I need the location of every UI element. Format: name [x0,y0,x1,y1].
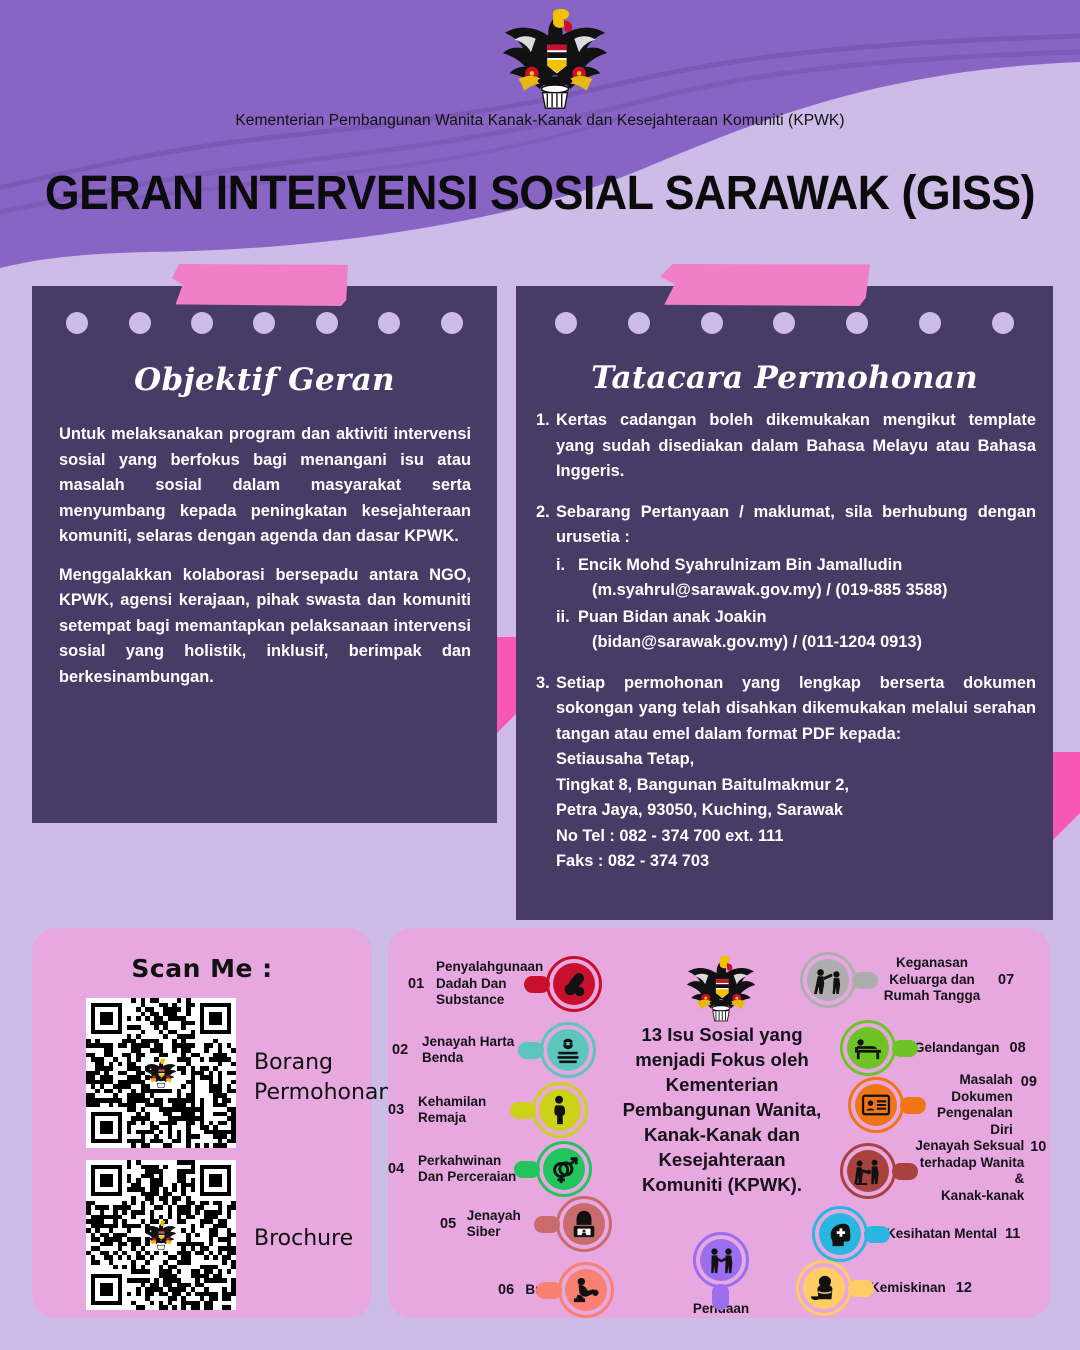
issue-item-13[interactable]: Penuaan [686,1232,756,1318]
procedure-item: 2. Sebarang Pertanyaan / maklumat, sila … [536,500,1036,656]
contact-person: i. Encik Mohd Syahrulnizam Bin Jamalludi… [556,553,1036,604]
objective-card: Objektif Geran Untuk melaksanakan progra… [32,286,497,823]
punch-holes [516,312,1053,334]
page-title: GERAN INTERVENSI SOSIAL SARAWAK (GISS) [38,168,1042,220]
issue-item-11[interactable]: Kesihatan Mental 11 [812,1206,1022,1262]
issue-number: 04 [388,1161,412,1177]
punch-holes [32,312,497,334]
contact-marker: ii. [556,605,578,656]
issue-item-04[interactable]: 04 Perkahwinan Dan Perceraian [388,1141,600,1197]
torn-edge [32,808,497,824]
procedure-card: Tatacara Permohonan 1. Kertas cadangan b… [516,286,1053,920]
issue-label: Masalah Dokumen Pengenalan Diri [920,1072,1013,1138]
pregnant-woman-icon [532,1082,588,1138]
procedure-text: Setiap permohonan yang lengkap berserta … [556,674,1036,743]
contact-name: Puan Bidan anak Joakin [578,608,767,626]
punch-hole [701,312,723,334]
issue-label: Keganasan Keluarga dan Rumah Tangga [872,955,992,1005]
procedure-item: 1. Kertas cadangan boleh dikemukakan men… [536,408,1036,485]
punch-hole [378,312,400,334]
issue-number: 11 [1005,1226,1020,1242]
sarawak-coat-of-arms-icon [144,1219,178,1251]
issue-item-06[interactable]: 06 Buli [498,1262,614,1318]
homeless-bench-glyph [840,1020,896,1076]
scan-panel-title: Scan Me : [32,954,372,983]
punch-hole [129,312,151,334]
contact-name: Encik Mohd Syahrulnizam Bin Jamalludin [578,556,902,574]
issue-number: 12 [956,1280,972,1296]
hacker-icon [556,1196,612,1252]
issue-label: Jenayah Harta Benda [422,1034,528,1067]
issue-label: Jenayah Seksual terhadap Wanita & Kanak-… [910,1138,1024,1204]
qr-label-borang-permohonan: Borang Permohonan [254,1048,374,1108]
procedure-text: Sebarang Pertanyaan / maklumat, sila ber… [556,503,1036,547]
procedure-card-title: Tatacara Permohonan [516,360,1053,396]
procedure-number: 3. [536,671,556,875]
pregnant-woman-glyph [532,1082,588,1138]
scan-panel: Scan Me : [32,928,372,1318]
punch-hole [191,312,213,334]
washi-tape [172,264,348,306]
phone-line: No Tel : 082 - 374 700 ext. 111 [556,824,1036,850]
qr-label-brochure: Brochure [254,1224,374,1254]
torn-edge [516,905,1053,921]
bullying-icon [558,1262,614,1318]
address-line: Tingkat 8, Bangunan Baitulmakmur 2, [556,773,1036,799]
id-card-glyph [848,1077,904,1133]
address-line: Setiausaha Tetap, [556,747,1036,773]
issue-label: Kehamilan Remaja [418,1094,508,1127]
issue-number: 10 [1030,1139,1052,1155]
issue-number: 01 [408,976,432,992]
issue-item-01[interactable]: 01 Penyalahgunaan Dadah Dan Substance [408,956,608,1012]
issue-item-12[interactable]: Kemiskinan 12 [796,1260,992,1316]
issue-item-09[interactable]: Masalah Dokumen Pengenalan Diri 09 [848,1072,1044,1138]
punch-hole [773,312,795,334]
fax-line: Faks : 082 - 374 703 [556,849,1036,875]
procedure-card-body: 1. Kertas cadangan boleh dikemukakan men… [536,408,1036,890]
punch-hole [316,312,338,334]
qr-code-brochure[interactable] [86,1160,236,1310]
sexual-abuse-glyph [840,1143,896,1199]
hacker-glyph [556,1196,612,1252]
punch-hole [253,312,275,334]
sexual-abuse-icon [840,1143,896,1199]
elderly-care-icon [693,1232,749,1288]
punch-hole [846,312,868,334]
procedure-text: Kertas cadangan boleh dikemukakan mengik… [556,408,1036,485]
issue-item-08[interactable]: Gelandangan 08 [840,1020,1030,1076]
issue-label: Kemiskinan [870,1280,946,1297]
issue-item-03[interactable]: 03 Kehamilan Remaja [388,1082,596,1138]
poverty-glyph [796,1260,852,1316]
issue-number: 02 [392,1042,416,1058]
contact-person: ii. Puan Bidan anak Joakin (bidan@sarawa… [556,605,1036,656]
issue-number: 06 [498,1282,519,1298]
objective-card-title: Objektif Geran [32,362,497,398]
issue-number: 03 [388,1102,412,1118]
punch-hole [441,312,463,334]
homeless-bench-icon [840,1020,896,1076]
punch-hole [992,312,1014,334]
contact-marker: i. [556,553,578,604]
mental-health-icon [812,1206,868,1262]
qr-code-borang-permohonan[interactable] [86,998,236,1148]
objective-paragraph: Untuk melaksanakan program dan aktiviti … [59,422,471,550]
corner-fold-pink [1053,752,1080,840]
pills-icon [546,956,602,1012]
procedure-item: 3. Setiap permohonan yang lengkap berser… [536,671,1036,875]
issue-item-10[interactable]: Jenayah Seksual terhadap Wanita & Kanak-… [840,1138,1052,1204]
issue-number: 07 [998,972,1022,988]
ministry-name: Kementerian Pembangunan Wanita Kanak-Kan… [0,112,1080,130]
address-line: Petra Jaya, 93050, Kuching, Sarawak [556,798,1036,824]
elderly-care-glyph [693,1232,749,1288]
issue-label: Kesihatan Mental [886,1226,997,1243]
issue-number: 09 [1021,1074,1044,1090]
punch-hole [919,312,941,334]
objective-paragraph: Menggalakkan kolaborasi bersepadu antara… [59,563,471,691]
punch-hole [555,312,577,334]
sarawak-coat-of-arms-icon [497,4,613,112]
issue-item-07[interactable]: Keganasan Keluarga dan Rumah Tangga 07 [800,952,1036,1008]
objective-card-body: Untuk melaksanakan program dan aktiviti … [59,422,471,690]
bullying-glyph [558,1262,614,1318]
issue-label: Gelandangan [914,1040,1000,1057]
id-card-icon [848,1077,904,1133]
issues-center-text: 13 Isu Sosial yang menjadi Fokus oleh Ke… [616,1022,828,1197]
procedure-number: 1. [536,408,556,485]
domestic-violence-glyph [800,952,856,1008]
sarawak-coat-of-arms-icon [683,952,759,1024]
issue-number: 08 [1010,1040,1026,1056]
sarawak-coat-of-arms-icon [144,1057,178,1089]
pills-glyph [546,956,602,1012]
gender-symbols-icon [536,1141,592,1197]
mental-health-glyph [812,1206,868,1262]
washi-tape [660,264,870,306]
contact-details: (m.syahrul@sarawak.gov.my) / (019-885 35… [578,578,948,604]
procedure-number: 2. [536,500,556,656]
issue-item-02[interactable]: 02 Jenayah Harta Benda [392,1022,608,1078]
burglar-glyph [540,1022,596,1078]
burglar-icon [540,1022,596,1078]
contact-details: (bidan@sarawak.gov.my) / (011-1204 0913) [578,630,922,656]
issue-item-05[interactable]: 05 Jenayah Siber [440,1196,612,1252]
domestic-violence-icon [800,952,856,1008]
poverty-icon [796,1260,852,1316]
issue-number: 05 [440,1216,463,1232]
gender-symbols-glyph [536,1141,592,1197]
poster-root: Kementerian Pembangunan Wanita Kanak-Kan… [0,0,1080,1350]
punch-hole [66,312,88,334]
punch-hole [628,312,650,334]
